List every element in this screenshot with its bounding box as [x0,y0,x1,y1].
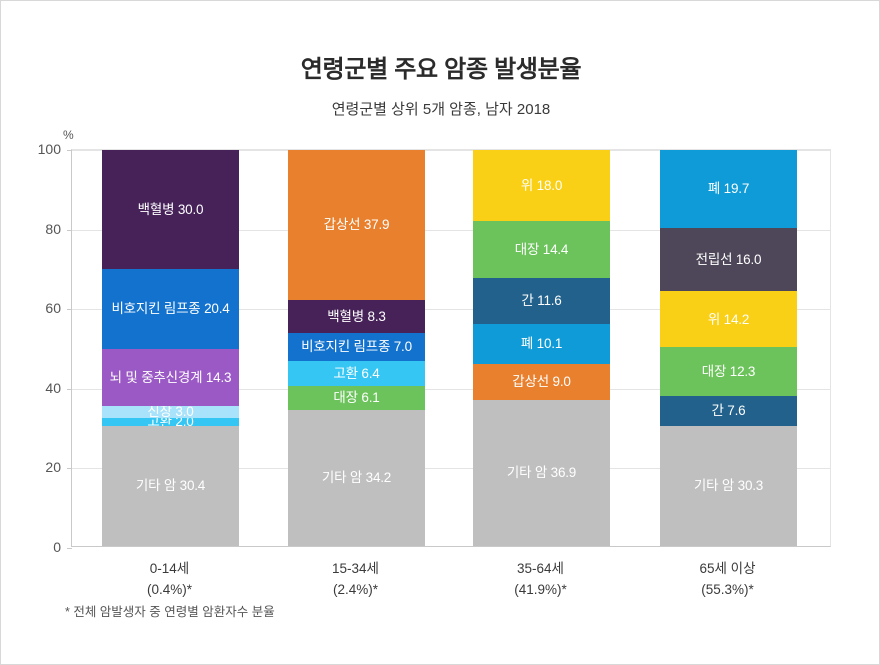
bar-segment-label: 기타 암 30.3 [694,479,763,493]
y-axis-tick-mark [67,230,72,231]
x-axis-category: 0-14세 [80,559,260,580]
bar-segment[interactable]: 기타 암 34.2 [288,410,425,545]
bar-segment-label: 간 7.6 [712,404,746,418]
y-axis-tick-label: 80 [1,221,61,237]
bar-segment[interactable]: 위 14.2 [660,291,797,347]
bar-segment-label: 고환 6.4 [333,367,379,381]
x-axis-tick-label: 35-64세(41.9%)* [451,559,631,601]
y-axis-tick-label: 20 [1,459,61,475]
x-axis-category: 15-34세 [266,559,446,580]
chart-page: 연령군별 주요 암종 발생분율 연령군별 상위 5개 암종, 남자 2018 %… [0,0,880,665]
x-axis-category-sublabel: (0.4%)* [80,580,260,601]
bar-segment[interactable]: 갑상선 37.9 [288,150,425,300]
bar-segment-label: 고환 2.0 [147,418,193,426]
chart-subtitle: 연령군별 상위 5개 암종, 남자 2018 [1,98,880,119]
y-axis-unit-label: % [63,128,74,142]
bar-segment-label: 위 14.2 [708,313,749,327]
bar-segment[interactable]: 폐 10.1 [473,324,610,364]
bar-segment[interactable]: 뇌 및 중추신경계 14.3 [102,349,239,406]
bar-segment[interactable]: 전립선 16.0 [660,228,797,291]
bar-segment[interactable]: 기타 암 36.9 [473,400,610,546]
plot-area: 백혈병 30.0비호지킨 림프종 20.4뇌 및 중추신경계 14.3신장 3.… [71,149,831,547]
bar-segment-label: 비호지킨 림프종 7.0 [301,340,412,354]
bar-segment-label: 비호지킨 림프종 20.4 [111,302,229,316]
bar-segment-label: 기타 암 36.9 [507,466,576,480]
bar-segment[interactable]: 백혈병 8.3 [288,300,425,333]
bar-segment[interactable]: 위 18.0 [473,150,610,221]
x-axis-tick-label: 65세 이상(55.3%)* [638,559,818,601]
bar-segment-label: 폐 10.1 [521,337,562,351]
bar-segment[interactable]: 폐 19.7 [660,150,797,228]
x-axis-category-sublabel: (55.3%)* [638,580,818,601]
x-axis-category-sublabel: (41.9%)* [451,580,631,601]
bar-segment-label: 백혈병 30.0 [138,203,204,217]
bar-segment[interactable]: 비호지킨 림프종 7.0 [288,333,425,361]
bar-segment-label: 전립선 16.0 [696,253,762,267]
y-axis-tick-mark [67,389,72,390]
x-axis-category: 35-64세 [451,559,631,580]
bar-segment[interactable]: 기타 암 30.4 [102,426,239,546]
y-axis-tick-label: 100 [1,141,61,157]
x-axis-category: 65세 이상 [638,559,818,580]
bar-segment-label: 대장 14.4 [515,243,568,257]
bar-segment[interactable]: 고환 2.0 [102,418,239,426]
y-axis-tick-label: 40 [1,380,61,396]
bar-segment-label: 폐 19.7 [708,182,749,196]
y-axis-tick-label: 0 [1,539,61,555]
bar-segment[interactable]: 갑상선 9.0 [473,364,610,400]
bar-segment[interactable]: 대장 6.1 [288,386,425,410]
x-axis-tick-label: 0-14세(0.4%)* [80,559,260,601]
y-axis-tick-mark [67,309,72,310]
stacked-bar[interactable]: 백혈병 30.0비호지킨 림프종 20.4뇌 및 중추신경계 14.3신장 3.… [102,150,239,546]
y-axis-tick-mark [67,150,72,151]
y-axis-tick-mark [67,548,72,549]
bar-segment-label: 갑상선 9.0 [512,375,570,389]
bar-segment-label: 뇌 및 중추신경계 14.3 [110,371,232,385]
bar-segment[interactable]: 고환 6.4 [288,361,425,386]
bar-segment-label: 위 18.0 [521,179,562,193]
bar-segment-label: 기타 암 30.4 [136,479,205,493]
bar-segment-label: 간 11.6 [521,294,561,308]
bar-segment[interactable]: 대장 14.4 [473,221,610,278]
y-axis-tick-mark [67,468,72,469]
stacked-bar[interactable]: 폐 19.7전립선 16.0위 14.2대장 12.3간 7.6기타 암 30.… [660,150,797,546]
bar-segment[interactable]: 간 7.6 [660,396,797,426]
bar-segment-label: 대장 12.3 [702,365,755,379]
x-axis-category-sublabel: (2.4%)* [266,580,446,601]
bar-segment-label: 기타 암 34.2 [322,471,391,485]
stacked-bar[interactable]: 위 18.0대장 14.4간 11.6폐 10.1갑상선 9.0기타 암 36.… [473,150,610,546]
y-axis-tick-label: 60 [1,300,61,316]
bar-segment-label: 신장 3.0 [147,406,193,418]
bar-segment[interactable]: 대장 12.3 [660,347,797,396]
bar-segment[interactable]: 비호지킨 림프종 20.4 [102,269,239,350]
bar-segment-label: 대장 6.1 [333,391,379,405]
bar-segment[interactable]: 간 11.6 [473,278,610,324]
bar-segment[interactable]: 신장 3.0 [102,406,239,418]
footnote: * 전체 암발생자 중 연령별 암환자수 분율 [65,601,275,620]
stacked-bar[interactable]: 갑상선 37.9백혈병 8.3비호지킨 림프종 7.0고환 6.4대장 6.1기… [288,150,425,546]
bar-segment[interactable]: 기타 암 30.3 [660,426,797,546]
bar-segment-label: 갑상선 37.9 [324,218,390,232]
bar-segment[interactable]: 백혈병 30.0 [102,150,239,269]
x-axis-tick-label: 15-34세(2.4%)* [266,559,446,601]
page-title: 연령군별 주요 암종 발생분율 [1,49,880,84]
bar-segment-label: 백혈병 8.3 [327,310,385,324]
